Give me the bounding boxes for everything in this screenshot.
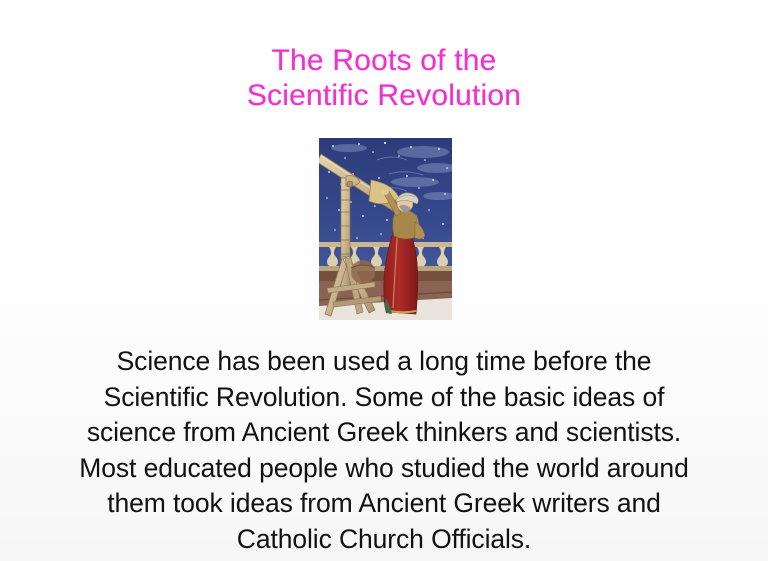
astronomer-illustration-svg — [319, 138, 452, 320]
title-line-1: The Roots of the — [0, 44, 768, 79]
slide-title: The Roots of the Scientific Revolution — [0, 44, 768, 113]
presentation-slide: The Roots of the Scientific Revolution — [0, 0, 768, 561]
body-line-1: Science has been used a long time before… — [8, 344, 760, 380]
body-line-3: science from Ancient Greek thinkers and … — [8, 415, 760, 451]
slide-body-text: Science has been used a long time before… — [8, 344, 760, 557]
body-line-5: them took ideas from Ancient Greek write… — [8, 486, 760, 522]
title-line-2: Scientific Revolution — [0, 79, 768, 114]
astronomer-with-telescope-image — [319, 138, 452, 320]
body-line-6: Catholic Church Officials. — [8, 522, 760, 558]
body-line-2: Scientific Revolution. Some of the basic… — [8, 380, 760, 416]
body-line-4: Most educated people who studied the wor… — [8, 451, 760, 487]
